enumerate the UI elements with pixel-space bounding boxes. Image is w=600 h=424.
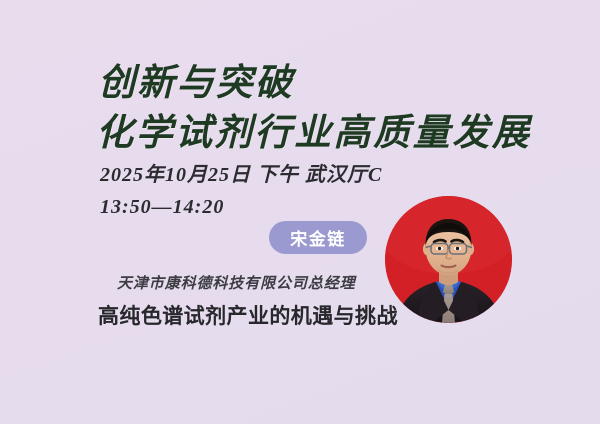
event-time: 13:50—14:20 (100, 196, 224, 219)
speaker-name-badge: 宋金链 (269, 221, 367, 254)
poster-title-line-1: 创新与突破 (98, 62, 294, 106)
speaker-portrait (385, 196, 512, 323)
speaker-announcement-poster: 创新与突破 化学试剂行业高质量发展 2025年10月25日 下午 武汉厅C 13… (0, 0, 600, 424)
poster-title-line-2: 化学试剂行业高质量发展 (96, 112, 532, 156)
speaker-headshot-image (385, 196, 512, 323)
speaker-name-label: 宋金链 (290, 225, 346, 250)
speaker-affiliation: 天津市康科德科技有限公司总经理 (117, 272, 356, 293)
talk-topic: 高纯色谱试剂产业的机遇与挑战 (98, 300, 398, 330)
event-date: 2025年10月25日 下午 武汉厅C (100, 158, 382, 187)
